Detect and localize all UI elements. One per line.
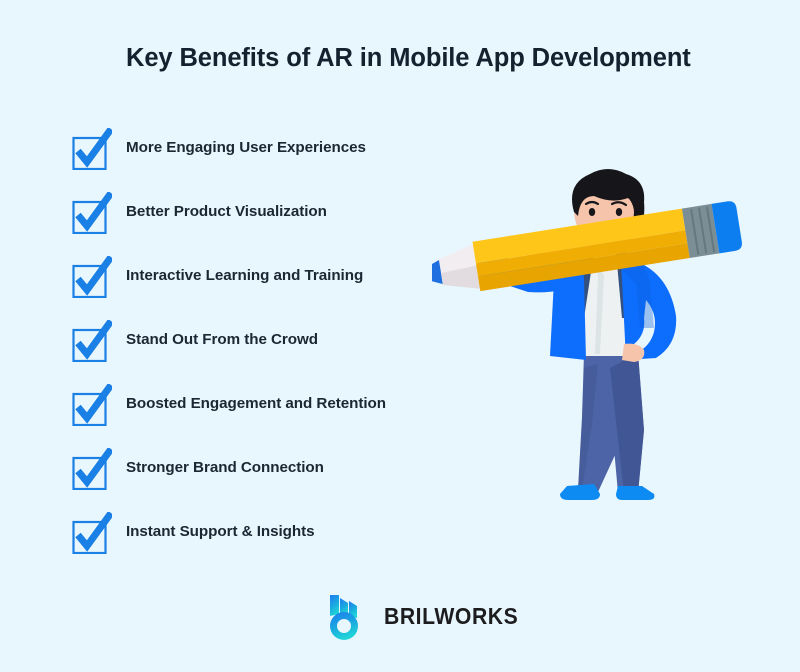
shoe-right — [616, 486, 654, 500]
list-item-label: Stronger Brand Connection — [126, 458, 324, 478]
list-item: Stronger Brand Connection — [70, 446, 450, 510]
man-carrying-giant-pencil-illustration — [432, 168, 768, 504]
list-item: Instant Support & Insights — [70, 510, 450, 574]
list-item: More Engaging User Experiences — [70, 126, 450, 190]
eye-left — [589, 208, 595, 216]
infographic-poster: Key Benefits of AR in Mobile App Develop… — [0, 0, 800, 672]
checkbox-checked-icon — [70, 192, 112, 234]
eye-right — [616, 208, 622, 216]
checkbox-checked-icon — [70, 384, 112, 426]
page-title: Key Benefits of AR in Mobile App Develop… — [126, 42, 746, 74]
list-item-label: Better Product Visualization — [126, 202, 327, 222]
checkbox-checked-icon — [70, 448, 112, 490]
list-item-label: More Engaging User Experiences — [126, 138, 366, 158]
list-item: Boosted Engagement and Retention — [70, 382, 450, 446]
brilworks-logo: BRILWORKS — [326, 590, 530, 642]
checkbox-checked-icon — [70, 512, 112, 554]
checkbox-checked-icon — [70, 320, 112, 362]
checkbox-checked-icon — [70, 256, 112, 298]
list-item: Better Product Visualization — [70, 190, 450, 254]
list-item: Interactive Learning and Training — [70, 254, 450, 318]
list-item: Stand Out From the Crowd — [70, 318, 450, 382]
checkbox-checked-icon — [70, 128, 112, 170]
brilworks-b-mark-icon — [326, 592, 372, 640]
shoe-left — [560, 484, 600, 500]
benefits-list: More Engaging User Experiences Better Pr… — [70, 126, 450, 574]
brilworks-wordmark: BRILWORKS — [384, 603, 518, 630]
list-item-label: Boosted Engagement and Retention — [126, 394, 386, 414]
list-item-label: Instant Support & Insights — [126, 522, 315, 542]
list-item-label: Interactive Learning and Training — [126, 266, 363, 286]
list-item-label: Stand Out From the Crowd — [126, 330, 318, 350]
